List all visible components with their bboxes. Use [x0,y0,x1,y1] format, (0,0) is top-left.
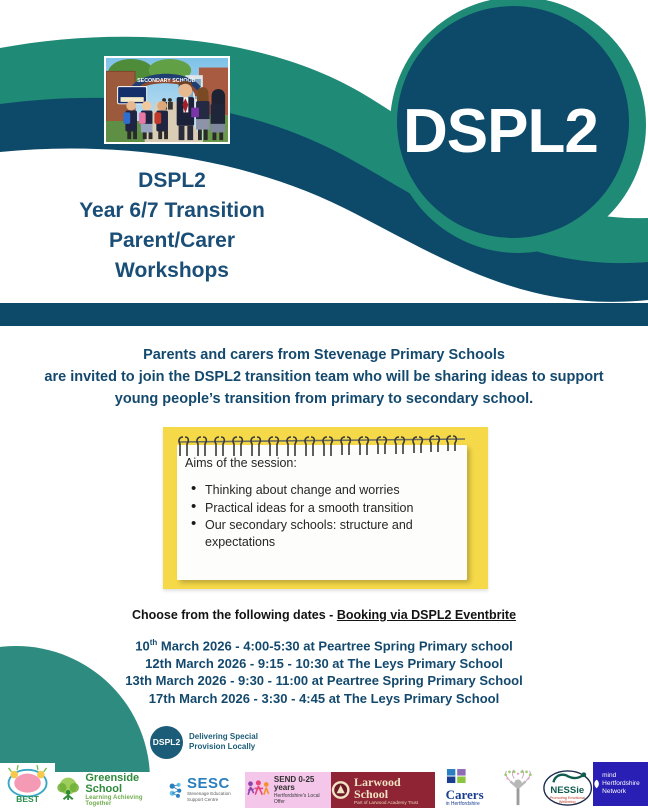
svg-text:BEST: BEST [16,794,40,804]
greenside-subtitle: Learning Achieving Together [85,795,167,807]
date-2-rest: March 2026 - 9:15 - 10:30 at The Leys Pr… [172,656,503,671]
logo-send-local-offer: SEND 0-25 years Hertfordshire's Local Of… [245,772,331,808]
date-item-4: 17th March 2026 - 3:30 - 4:45 at The Ley… [0,690,648,708]
date-4-rest: March 2026 - 3:30 - 4:45 at The Leys Pri… [176,691,500,706]
date-4-day: 17th [149,691,176,706]
date-3-day: 13th [125,673,152,688]
poster-canvas: DSPL2 SECONDARY SCHO [0,0,648,808]
larwood-subtitle: Part of Larwood Academy Trust [354,800,435,805]
secondary-school-photo: SECONDARY SCHOOL [104,56,230,144]
date-item-1: 10th March 2026 - 4:00-5:30 at Peartree … [0,634,648,655]
date-3-rest: March 2026 - 9:30 - 11:00 at Peartree Sp… [152,673,523,688]
dates-heading-prefix: Choose from the following dates - [132,608,337,622]
logo-tree [494,768,542,808]
intro-paragraph: Parents and carers from Stevenage Primar… [0,344,648,410]
poster-title-line-3: Parent/Carer [34,226,310,256]
dates-list: 10th March 2026 - 4:00-5:30 at Peartree … [0,634,648,707]
larwood-title: Larwood School [354,776,435,800]
date-item-2: 12th March 2026 - 9:15 - 10:30 at The Le… [0,655,648,673]
send-people-icon [245,777,272,803]
mind-text: mind Hertfordshire Network [602,772,648,796]
poster-title: DSPL2 Year 6/7 Transition Parent/Carer W… [34,166,310,286]
nessie-title: NESSie [542,785,593,796]
dspl2-tagline-line-1: Delivering Special [189,732,258,743]
logo-larwood-school: Larwood School Part of Larwood Academy T… [331,772,436,808]
larwood-crest-icon [331,780,350,800]
badge-title: DSPL2 [403,96,638,167]
carers-subtitle: in Hertfordshire [446,801,484,807]
greenside-title: Greenside School [85,773,167,795]
notepad-bullet-list: Thinking about change and worries Practi… [185,482,463,550]
aims-notepad: Aims of the session: Thinking about chan… [163,427,488,589]
poster-title-line-4: Workshops [34,256,310,286]
dates-heading: Choose from the following dates - Bookin… [0,608,648,622]
nessie-subtitle: Promoting Emotional Wellbeing [542,796,593,804]
logo-greenside-school: Greenside School Learning Achieving Toge… [55,772,167,808]
dspl2-tagline-line-2: Provision Locally [189,742,258,753]
poster-title-line-1: DSPL2 [34,166,310,196]
date-2-day: 12th [145,656,172,671]
intro-line-1: Parents and carers from Stevenage Primar… [0,344,648,366]
partner-logo-strip: BEST Greenside School Learning Achieving… [0,764,648,808]
dspl2-logo-tagline: Delivering Special Provision Locally [189,732,258,753]
notepad-heading: Aims of the session: [185,455,463,471]
mind-subtitle: Hertfordshire Network [602,780,640,795]
navy-divider-bar [0,303,648,326]
logo-mind-hertfordshire-network: mind Hertfordshire Network [593,762,648,806]
eventbrite-booking-link[interactable]: Booking via DSPL2 Eventbrite [337,608,516,622]
sesc-subtitle: Stevenage Education Support Centre [187,791,245,802]
date-item-3: 13th March 2026 - 9:30 - 11:00 at Peartr… [0,672,648,690]
logo-nessie: NESSie Promoting Emotional Wellbeing [542,768,593,808]
logo-sesc: SESC Stevenage Education Support Centre [167,772,245,808]
mind-title: mind [602,772,616,779]
carers-title: Carers [446,789,484,801]
date-1-rest: March 2026 - 4:00-5:30 at Peartree Sprin… [157,638,513,653]
notepad-bullet-1: Thinking about change and worries [205,482,463,499]
notepad-content: Aims of the session: Thinking about chan… [185,455,463,551]
notepad-bullet-2: Practical ideas for a smooth transition [205,500,463,517]
dspl2-logo-mark: DSPL2 [150,726,183,759]
carers-squares-icon [446,769,474,784]
greenside-tree-icon [55,775,81,805]
poster-title-line-2: Year 6/7 Transition [34,196,310,226]
send-subtitle: Hertfordshire's Local Offer [274,793,331,805]
intro-line-2: are invited to join the DSPL2 transition… [0,366,648,388]
dspl2-footer-logo: DSPL2 Delivering Special Provision Local… [150,725,270,759]
date-1-day: 10 [135,638,149,653]
tree-with-figure-icon [496,769,540,807]
sesc-molecule-icon [167,779,184,801]
sesc-title: SESC [187,777,245,791]
logo-carers-in-hertfordshire: Carers in Hertfordshire [435,768,494,808]
intro-line-3: young people’s transition from primary t… [0,388,648,410]
logo-best: BEST [0,763,55,808]
send-title: SEND 0-25 years [274,776,331,793]
mind-leaf-icon [593,778,600,790]
notepad-bullet-3: Our secondary schools: structure and exp… [205,517,463,550]
